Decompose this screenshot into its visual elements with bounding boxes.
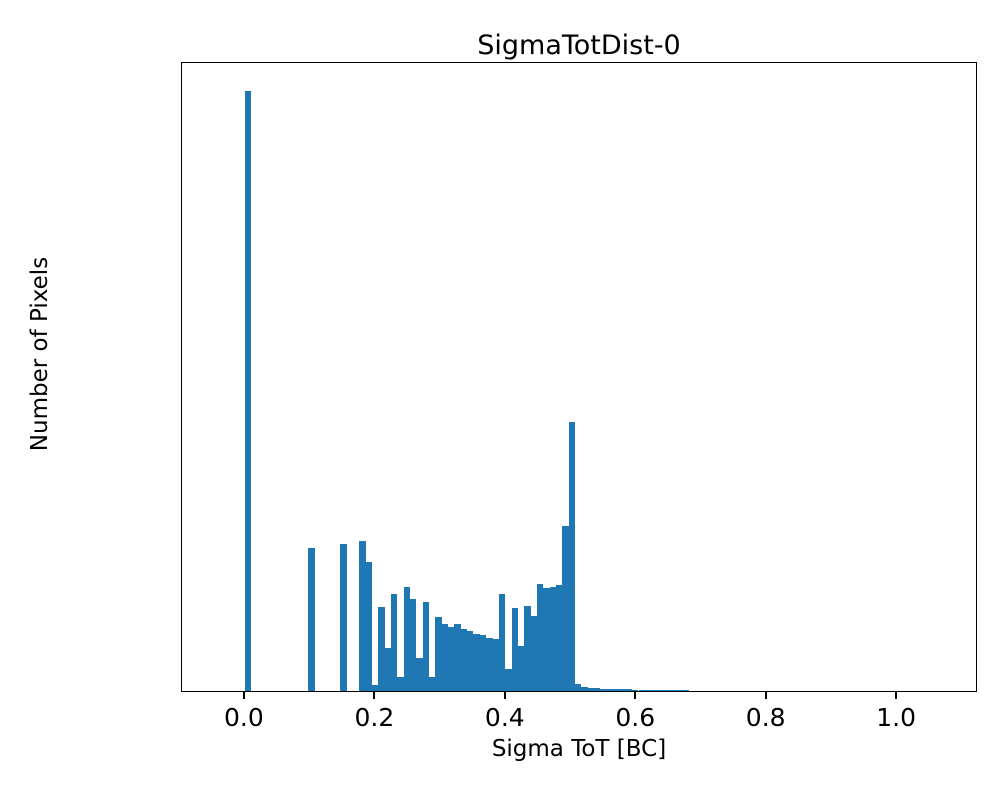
histogram-bar: [461, 629, 467, 691]
histogram-bar: [340, 544, 346, 691]
histogram-bar: [569, 422, 575, 691]
histogram-bar: [404, 587, 410, 691]
x-axis-label: Sigma ToT [BC]: [181, 735, 977, 763]
plot-area: [181, 62, 977, 692]
page-title: SigmaTotDist-0: [181, 30, 977, 62]
histogram-bar: [594, 688, 600, 691]
histogram-bar: [670, 690, 676, 691]
chart-figure: SigmaTotDist-0 Number of Pixels Sigma To…: [0, 0, 1000, 800]
x-tick-mark: [373, 692, 375, 699]
histogram-bar: [651, 690, 657, 691]
histogram-bar: [366, 562, 372, 691]
histogram-bar: [537, 584, 543, 691]
x-tick-label: 0.0: [184, 702, 304, 734]
histogram-bar: [632, 690, 638, 691]
x-tick-mark: [504, 692, 506, 699]
x-tick-label: 0.2: [314, 702, 434, 734]
histogram-bar: [613, 689, 619, 691]
histogram-bar: [518, 646, 524, 691]
x-tick-label: 1.0: [836, 702, 956, 734]
histogram-bar: [683, 690, 689, 691]
histogram-bar: [556, 585, 562, 691]
histogram-bar: [499, 594, 505, 691]
x-tick-label: 0.6: [575, 702, 695, 734]
x-tick-label: 0.8: [706, 702, 826, 734]
x-tick-mark: [895, 692, 897, 699]
histogram-bars: [182, 63, 976, 691]
histogram-bar: [442, 624, 448, 691]
histogram-bar: [480, 635, 486, 691]
x-tick-mark: [634, 692, 636, 699]
x-tick-label: 0.4: [445, 702, 565, 734]
histogram-bar: [575, 684, 581, 691]
histogram-bar: [308, 548, 314, 691]
histogram-bar: [385, 648, 391, 691]
histogram-bar: [423, 602, 429, 691]
x-tick-mark: [243, 692, 245, 699]
x-tick-mark: [765, 692, 767, 699]
y-axis-label: Number of Pixels: [26, 204, 54, 504]
histogram-bar: [245, 91, 251, 691]
